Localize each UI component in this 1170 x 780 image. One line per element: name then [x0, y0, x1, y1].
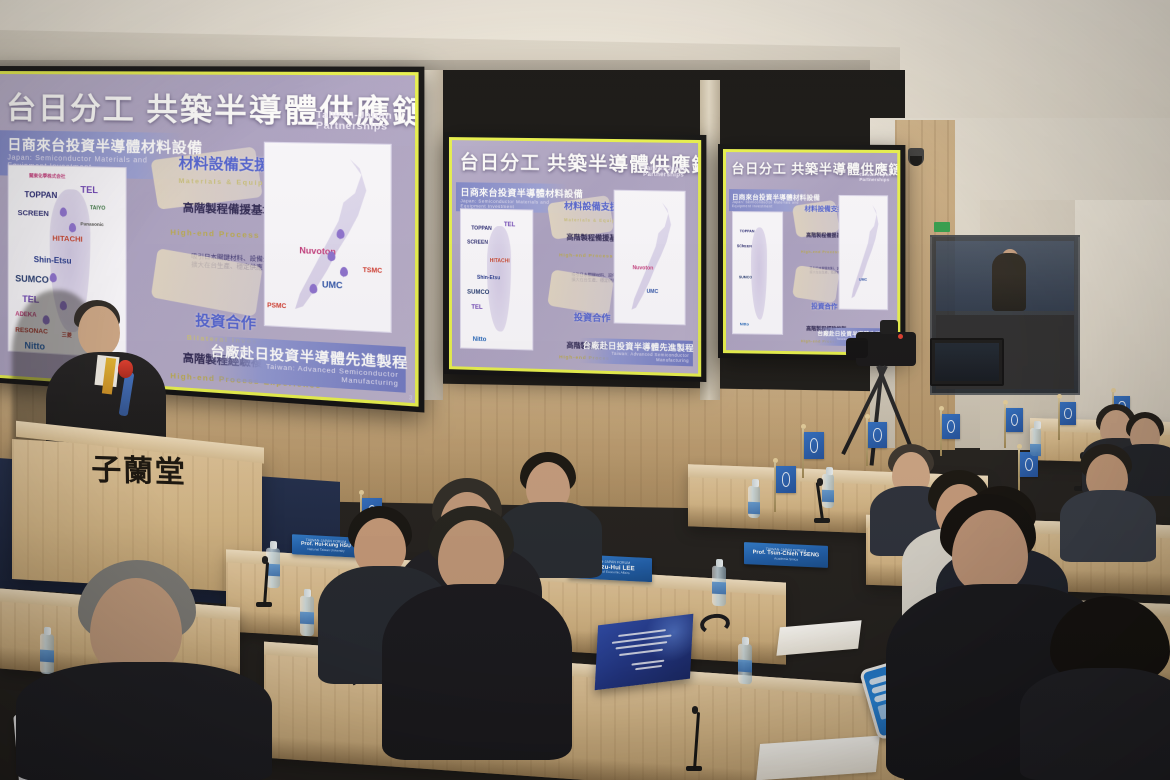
flag-emblem — [810, 438, 819, 452]
speaker-head — [78, 306, 120, 356]
nameplate-sub: National Taiwan University — [307, 548, 344, 553]
logo-shinetsu: Shin-Etsu — [34, 255, 72, 266]
control-monitor-screen — [935, 343, 999, 381]
nameplate-sub: Academia Sinica — [774, 558, 798, 562]
slide-page-number: 3 — [409, 395, 412, 402]
camera-viewfinder — [880, 320, 898, 334]
logo-screen-3: SCREEN — [737, 244, 752, 248]
bottle-label — [712, 582, 726, 595]
japan-outline-3 — [850, 205, 881, 301]
mic-capsule — [692, 706, 698, 714]
slide-bottom-banner-2: 台廠赴日投資半導體先進製程 Taiwan: Advanced Semicondu… — [579, 337, 693, 366]
logo-panasonic: Panasonic — [81, 222, 104, 228]
flow-top-zh: 材料設備支援 — [179, 153, 270, 176]
logo-toppan: TOPPAN — [24, 190, 57, 200]
logo-screen-2: SCREEN — [467, 240, 488, 246]
map-pin — [69, 223, 76, 232]
conference-room-photo: 台日分工 共築半導體供應鏈 Taiwan-Japan Partnerships … — [0, 0, 1170, 780]
logo-toppan-3: TOPPAN — [740, 229, 755, 233]
flag-cloth — [868, 422, 887, 448]
projection-screen-center: 台日分工 共築半導體供應鏈 Taiwan-Japan Partnerships … — [444, 132, 706, 382]
water-bottle — [738, 644, 752, 685]
map-pin — [309, 283, 317, 293]
flow-top-zh-2: 材料設備支援 — [564, 198, 619, 212]
logo-tel-2b: TEL — [471, 305, 482, 311]
flag-cloth — [776, 466, 796, 493]
camera-lens — [846, 338, 868, 358]
logo-tel-1: TEL — [81, 184, 98, 195]
arrow-investment-3 — [792, 265, 839, 303]
map-pin — [340, 266, 348, 276]
slide-title-en: Taiwan-Japan Partnerships — [316, 110, 392, 132]
bottle-label — [748, 502, 760, 514]
logo-kanto: 關東化學株式会社 — [29, 173, 65, 180]
flag-emblem — [1025, 458, 1033, 471]
taiwan-map-card-2: TOPPAN TEL SCREEN HITACHI Shin-Etsu SUMC… — [460, 208, 533, 350]
logo-hitachi: HITACHI — [52, 234, 82, 244]
water-bottle — [712, 566, 726, 607]
logo-umc-2: UMC — [647, 289, 659, 295]
water-bottle — [300, 596, 314, 637]
exit-sign — [934, 222, 950, 232]
logo-hitachi-2: HITACHI — [490, 258, 510, 264]
water-bottle — [40, 633, 54, 674]
flow-bottom-zh: 投資合作 — [195, 310, 256, 334]
logo-sumco-3: SUMCO — [739, 275, 752, 279]
logo-screen: SCREEN — [18, 208, 49, 218]
water-bottle — [1030, 428, 1041, 456]
flow-bottom-zh-2: 投資合作 — [574, 311, 611, 325]
logo-tsmc: TSMC — [363, 267, 383, 274]
flag-emblem — [947, 420, 955, 433]
broadcast-camera-rig — [846, 322, 942, 462]
logo-umc: UMC — [322, 280, 343, 291]
camera-tally-light — [898, 334, 903, 339]
japan-map-card-3: UMC — [839, 195, 889, 311]
flow-bottom-zh-3: 投資合作 — [811, 300, 837, 310]
slide-left-banner-zh-2: 日商來台投資半導體材料設備 — [460, 185, 562, 200]
logo-tel-2a: TEL — [504, 222, 515, 228]
dome-camera-icon — [908, 148, 924, 166]
japan-map-card: Nuvoton UMC TSMC PSMC — [264, 142, 393, 333]
flag-cloth — [1006, 408, 1023, 432]
slide-center: 台日分工 共築半導體供應鏈 Taiwan-Japan Partnerships … — [449, 137, 701, 377]
handheld-microphone-head — [118, 360, 133, 378]
bottle-label — [738, 660, 752, 673]
slide-title-en-3: Taiwan-Japan Partnerships — [859, 173, 891, 183]
japan-outline-2 — [630, 202, 675, 313]
taiwan-map-card-3: TOPPAN SCREEN SUMCO Nitto — [732, 212, 783, 336]
booth-operator-body — [992, 253, 1026, 311]
japan-map-card-2: Nuvoton UMC — [613, 190, 685, 325]
mic-capsule — [262, 556, 268, 564]
projection-screen-center-surface: 台日分工 共築半導體供應鏈 Taiwan-Japan Partnerships … — [449, 137, 701, 377]
slide-bottom-banner-en-2: Taiwan: Advanced Semiconductor Manufactu… — [583, 351, 689, 364]
flag-emblem — [782, 472, 791, 486]
logo-psmc: PSMC — [267, 303, 286, 310]
water-bottle — [822, 474, 834, 508]
logo-nitto-2: Nitto — [473, 337, 487, 343]
logo-umc-3: UMC — [859, 277, 867, 281]
logo-nuvoton-2: Nuvoton — [633, 265, 654, 272]
water-bottle — [748, 486, 760, 518]
map-pin — [327, 251, 335, 261]
japan-outline — [292, 158, 373, 316]
logo-shinetsu-2: Shin-Etsu — [477, 274, 500, 281]
mic-capsule — [817, 478, 823, 486]
logo-sumco: SUMCO — [15, 273, 49, 285]
bottle-label — [822, 490, 834, 502]
taiwan-outline-3 — [751, 227, 768, 319]
logo-sumco-2: SUMCO — [467, 289, 489, 296]
bottle-label — [40, 649, 54, 662]
map-pin — [59, 208, 66, 217]
logo-taiyo: TAIYO — [90, 205, 105, 212]
logo-nitto-3: Nitto — [740, 321, 749, 326]
nameplate-tseng: TAIWAN-JAPAN FORUM Prof. Tsun-Chieh TSEN… — [744, 542, 828, 568]
bottle-label — [1030, 444, 1041, 456]
flag-emblem — [1011, 414, 1018, 426]
printed-handout — [776, 620, 861, 656]
flag-emblem — [1064, 408, 1071, 420]
flag-cloth — [1060, 402, 1076, 425]
venue-name-calligraphy: 子蘭堂 — [84, 446, 195, 498]
flag-cloth — [804, 432, 824, 459]
flow-top-sub-zh: 高階製程備援基地 — [183, 200, 274, 219]
booth-glass — [936, 241, 1074, 311]
bottle-label — [300, 612, 314, 625]
booklet-glow — [643, 614, 693, 665]
flag-cloth — [942, 414, 960, 439]
slide-title-en-2: Taiwan-Japan Partnerships — [643, 165, 686, 178]
logo-toppan-2: TOPPAN — [471, 226, 491, 232]
flag-emblem — [873, 428, 881, 442]
program-booklet — [595, 614, 694, 691]
booklet-text-line — [635, 665, 662, 670]
